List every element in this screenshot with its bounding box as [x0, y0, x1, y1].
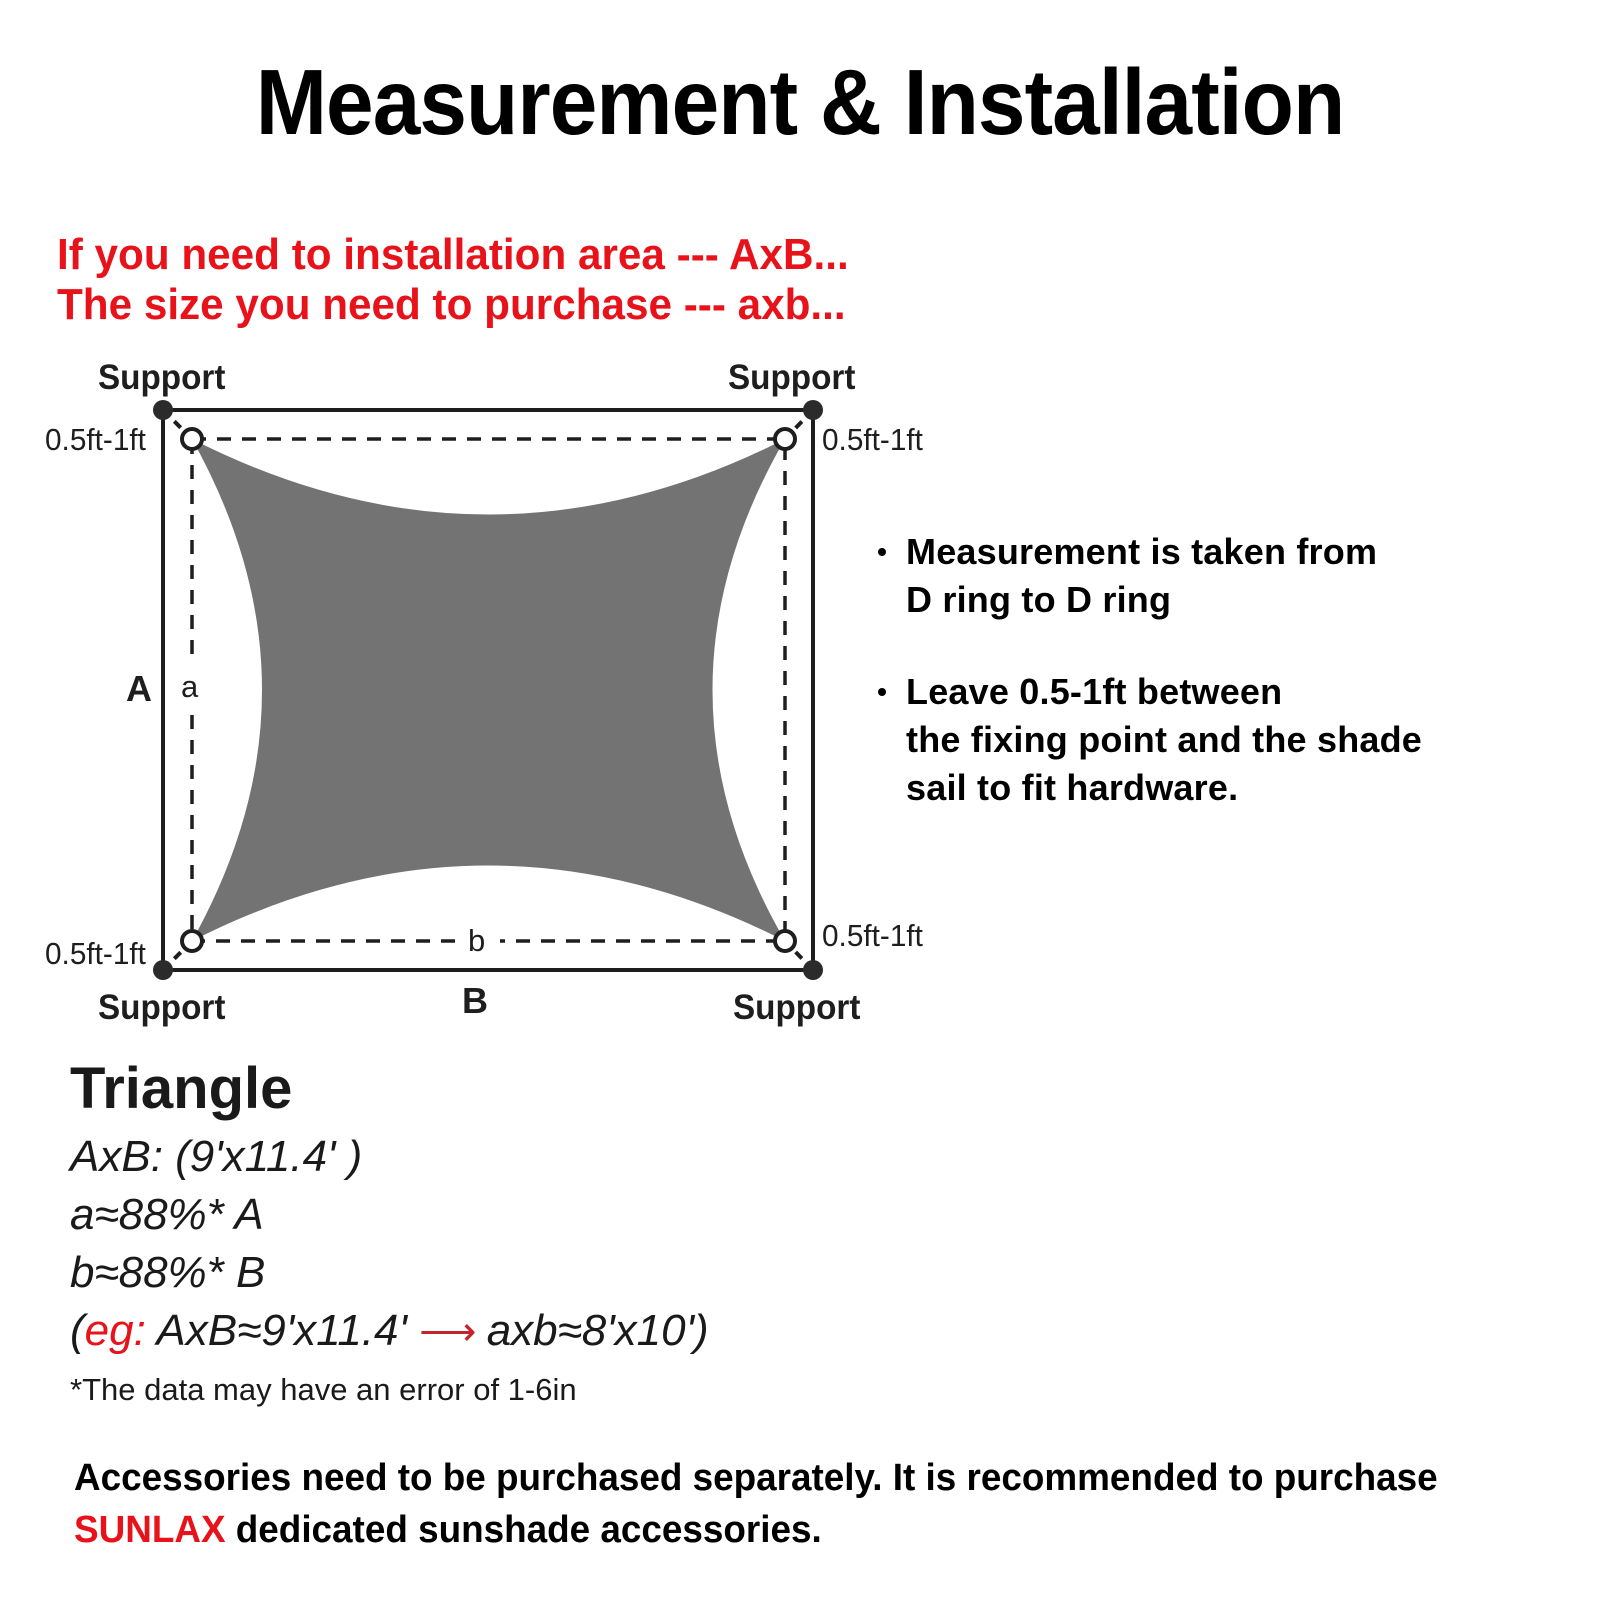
label-gap-top-right: 0.5ft-1ft [822, 422, 923, 458]
label-gap-bottom-right: 0.5ft-1ft [822, 918, 923, 954]
label-gap-top-left: 0.5ft-1ft [45, 422, 146, 458]
triangle-b-formula: b≈88%* B [70, 1244, 970, 1302]
support-point-bottom-right [803, 960, 823, 980]
example-open-paren: ( [70, 1306, 85, 1355]
label-support-bottom-left: Support [98, 988, 225, 1028]
bullet-1-line-2: D ring to D ring [906, 576, 1572, 624]
label-gap-bottom-left: 0.5ft-1ft [45, 936, 146, 972]
list-item: Measurement is taken from D ring to D ri… [872, 528, 1572, 624]
bullet-dot-icon [878, 548, 886, 556]
label-inner-width-b: b [468, 923, 485, 959]
d-ring-top-left [182, 429, 202, 449]
support-point-top-left [153, 400, 173, 420]
label-outer-height-A: A [126, 668, 152, 710]
triangle-sizing-section: Triangle AxB: (9'x11.4' ) a≈88%* A b≈88%… [70, 1058, 970, 1409]
bullet-2-line-1: Leave 0.5-1ft between [906, 668, 1572, 716]
footer-line-2: SUNLAX dedicated sunshade accessories. [74, 1504, 1529, 1556]
triangle-error-note: *The data may have an error of 1-6in [70, 1371, 970, 1409]
d-ring-bottom-right [775, 931, 795, 951]
shade-sail-diagram: Support Support Support Support 0.5ft-1f… [0, 340, 1010, 1050]
support-point-top-right [803, 400, 823, 420]
brand-name: SUNLAX [74, 1509, 226, 1551]
intro-line-1: If you need to installation area --- AxB… [57, 230, 849, 280]
bullet-dot-icon [878, 688, 886, 696]
footer-line-1: Accessories need to be purchased separat… [74, 1452, 1529, 1504]
notes-list: Measurement is taken from D ring to D ri… [872, 528, 1572, 812]
label-support-top-left: Support [98, 358, 225, 398]
label-inner-height-a: a [181, 669, 198, 705]
example-right-part: axb≈8'x10') [474, 1306, 708, 1355]
label-support-top-right: Support [728, 358, 855, 398]
d-ring-top-right [775, 429, 795, 449]
d-ring-bottom-left [182, 931, 202, 951]
triangle-a-formula: a≈88%* A [70, 1186, 970, 1244]
arrow-right-icon: ⟶ [419, 1310, 474, 1354]
bullet-2-line-2: the fixing point and the shade [906, 716, 1572, 764]
triangle-heading: Triangle [70, 1058, 970, 1120]
list-item: Leave 0.5-1ft between the fixing point a… [872, 668, 1572, 812]
intro-line-2: The size you need to purchase --- axb... [57, 280, 849, 330]
label-outer-width-B: B [462, 980, 488, 1022]
shade-sail-shape [192, 439, 785, 941]
triangle-example-line: (eg: AxB≈9'x11.4' ⟶ axb≈8'x10') [70, 1302, 970, 1361]
intro-note: If you need to installation area --- AxB… [57, 230, 849, 330]
support-point-bottom-left [153, 960, 173, 980]
example-eg-label: eg: [85, 1306, 146, 1355]
example-left-part: AxB≈9'x11.4' [146, 1306, 419, 1355]
label-support-bottom-right: Support [733, 988, 860, 1028]
bullet-2-line-3: sail to fit hardware. [906, 764, 1572, 812]
triangle-axb-line: AxB: (9'x11.4' ) [70, 1128, 970, 1186]
accessories-note: Accessories need to be purchased separat… [74, 1452, 1529, 1556]
bullet-1-line-1: Measurement is taken from [906, 528, 1572, 576]
page-title: Measurement & Installation [64, 52, 1536, 152]
footer-line-2-rest: dedicated sunshade accessories. [226, 1509, 822, 1551]
